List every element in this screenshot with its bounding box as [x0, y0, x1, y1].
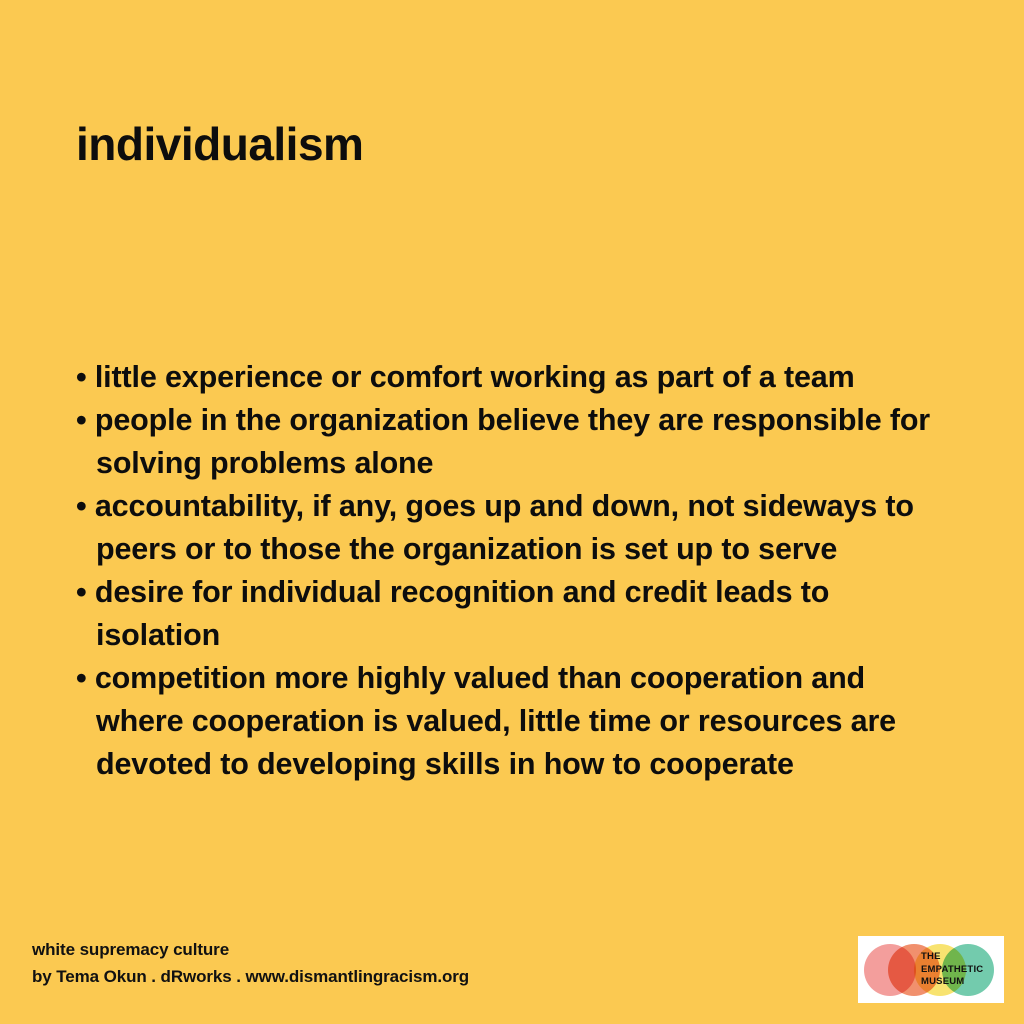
list-item: accountability, if any, goes up and down… — [76, 485, 946, 571]
logo-wordmark-line-2: EMPATHETIC — [921, 964, 983, 977]
attribution: white supremacy culture by Tema Okun . d… — [32, 936, 469, 990]
logo-wordmark: THE EMPATHETIC MUSEUM — [921, 951, 983, 989]
slide-canvas: individualism little experience or comfo… — [0, 0, 1024, 1024]
logo-wordmark-line-3: MUSEUM — [921, 976, 983, 989]
list-item: people in the organization believe they … — [76, 399, 946, 485]
list-item: competition more highly valued than coop… — [76, 657, 946, 786]
list-item: desire for individual recognition and cr… — [76, 571, 946, 657]
attribution-source-line: white supremacy culture — [32, 936, 469, 963]
logo-wordmark-line-1: THE — [921, 951, 983, 964]
attribution-author-line: by Tema Okun . dRworks . www.dismantling… — [32, 963, 469, 990]
empathetic-museum-logo: THE EMPATHETIC MUSEUM — [858, 936, 1004, 1003]
characteristics-list: little experience or comfort working as … — [76, 356, 946, 786]
page-title: individualism — [76, 119, 363, 170]
list-item: little experience or comfort working as … — [76, 356, 946, 399]
